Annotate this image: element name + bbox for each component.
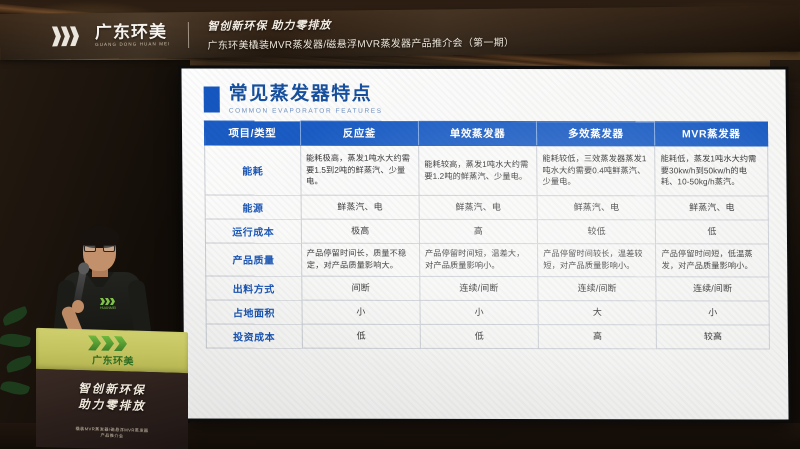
table-cell: 产品停留时间短，温差大，对产品质量影响小。 [419, 243, 538, 276]
table-row: 能源 鲜蒸汽、电 鲜蒸汽、电 鲜蒸汽、电 鲜蒸汽、电 [205, 195, 768, 220]
table-cell: 鲜蒸汽、电 [655, 196, 768, 220]
table-cell: 鲜蒸汽、电 [537, 196, 655, 220]
table-cell: 小 [656, 301, 769, 325]
slide-header: 常见蒸发器特点 COMMON EVAPORATOR FEATURES [204, 85, 383, 115]
table-cell: 鲜蒸汽、电 [301, 195, 419, 219]
table-cell: 产品停留时间短，低温蒸发，对产品质量影响小。 [656, 244, 769, 277]
table-cell: 鲜蒸汽、电 [419, 195, 537, 219]
company-logo-icon [88, 335, 138, 351]
table-cell: 能耗极高，蒸发1吨水大约需要1.5到2吨的鲜蒸汽、少量电。 [300, 145, 419, 195]
table-cell: 高 [419, 219, 537, 243]
conference-room-photo: 广东环美 GUANG DONG HUAN MEI 智创新环保 助力零排放 广东环… [0, 0, 800, 449]
table-cell: 间断 [301, 276, 419, 300]
table-cell: 极高 [301, 219, 419, 243]
projection-screen: 常见蒸发器特点 COMMON EVAPORATOR FEATURES 项目/类型… [178, 65, 791, 422]
event-banner: 广东环美 GUANG DONG HUAN MEI 智创新环保 助力零排放 广东环… [0, 6, 800, 60]
slide-title: 常见蒸发器特点 [229, 85, 383, 105]
banner-brand: 广东环美 GUANG DONG HUAN MEI [95, 23, 171, 47]
table-cell: 连续/间断 [538, 276, 656, 300]
table-row: 产品质量 产品停留时间长，质量不稳定，对产品质量影响大。 产品停留时间短，温差大… [205, 243, 768, 277]
slide-content: 常见蒸发器特点 COMMON EVAPORATOR FEATURES 项目/类型… [181, 68, 788, 419]
table-header-row: 项目/类型 反应釜 单效蒸发器 多效蒸发器 MVR蒸发器 [204, 121, 767, 146]
banner-divider [188, 22, 189, 48]
lectern-brand-label: 广东环美 [84, 351, 142, 368]
banner-event-title: 广东环美橇装MVR蒸发器/磁悬浮MVR蒸发器产品推介会（第一期） [207, 34, 514, 52]
table-cell: 产品停留时间长，质量不稳定，对产品质量影响大。 [301, 243, 420, 276]
glasses-icon [83, 245, 116, 253]
row-label: 运行成本 [205, 219, 301, 243]
table-row: 出料方式 间断 连续/间断 连续/间断 连续/间断 [206, 276, 769, 301]
table-header-cell: 多效蒸发器 [537, 122, 655, 146]
lectern-subtitle: 橇装MVR蒸发器/磁悬浮MVR蒸发器 产品推介会 [36, 425, 188, 442]
lectern-top-panel: 广东环美 [36, 328, 188, 373]
table-cell: 低 [656, 220, 769, 244]
table-row: 能耗 能耗极高，蒸发1吨水大约需要1.5到2吨的鲜蒸汽、少量电。 能耗较高，蒸发… [205, 145, 768, 196]
presenter-hand [72, 300, 84, 313]
lectern-logo: 广东环美 [84, 335, 142, 367]
row-label: 产品质量 [205, 243, 301, 276]
table-cell: 能耗较低，三效蒸发器蒸发1吨水大约需要0.4吨鲜蒸汽、少量电。 [537, 146, 656, 196]
table-row: 投资成本 低 低 高 较高 [206, 324, 769, 349]
title-accent-square [204, 87, 220, 113]
banner-brand-cn: 广东环美 [95, 23, 171, 41]
row-label: 能源 [205, 195, 301, 219]
table-cell: 产品停留时间较长，温差较短，对产品质量影响小。 [538, 244, 657, 277]
banner-slogan: 智创新环保 助力零排放 [207, 15, 514, 34]
table-cell: 高 [538, 324, 656, 348]
speaker-at-podium: HUANMEI 广东环美 智创新环保 助力零排放 [24, 226, 189, 449]
table-header-cell: 单效蒸发器 [418, 121, 536, 145]
table-cell: 能耗低，蒸发1吨水大约需要30kw/h到50kw/h的电耗、10-50kg/h蒸… [655, 146, 768, 196]
row-label: 投资成本 [206, 324, 302, 348]
table-cell: 低 [302, 324, 420, 348]
company-logo-icon [52, 25, 86, 47]
table-cell: 连续/间断 [420, 276, 538, 300]
table-row: 占地面积 小 小 大 小 [206, 300, 769, 325]
comparison-table-wrapper: 项目/类型 反应釜 单效蒸发器 多效蒸发器 MVR蒸发器 能耗 能耗极高，蒸发1… [204, 121, 770, 350]
banner-brand-en: GUANG DONG HUAN MEI [95, 42, 170, 47]
table-cell: 大 [538, 300, 656, 324]
row-label: 占地面积 [206, 300, 302, 324]
table-cell: 较高 [657, 325, 770, 349]
slide-subtitle: COMMON EVAPORATOR FEATURES [229, 107, 383, 114]
table-cell: 能耗较高，蒸发1吨水大约需要1.2吨的鲜蒸汽、少量电。 [419, 145, 538, 195]
lectern-slogan-line2: 助力零排放 [36, 396, 188, 416]
evaporator-comparison-table: 项目/类型 反应釜 单效蒸发器 多效蒸发器 MVR蒸发器 能耗 能耗极高，蒸发1… [204, 121, 770, 350]
table-header-cell: 项目/类型 [204, 121, 300, 145]
table-row: 运行成本 极高 高 较低 低 [205, 219, 768, 244]
table-cell: 小 [420, 300, 538, 324]
row-label: 出料方式 [206, 276, 302, 300]
polo-chest-logo-icon: HUANMEI [100, 298, 119, 310]
table-header-cell: MVR蒸发器 [655, 122, 768, 146]
table-cell: 小 [302, 300, 420, 324]
table-cell: 较低 [537, 220, 655, 244]
row-label: 能耗 [205, 145, 301, 195]
table-header-cell: 反应釜 [300, 121, 418, 145]
table-cell: 连续/间断 [656, 277, 769, 301]
lectern: 广东环美 智创新环保 助力零排放 橇装MVR蒸发器/磁悬浮MVR蒸发器 产品推介… [36, 328, 188, 449]
lectern-slogan: 智创新环保 助力零排放 [36, 381, 188, 416]
table-cell: 低 [420, 324, 538, 348]
lectern-front-panel: 智创新环保 助力零排放 橇装MVR蒸发器/磁悬浮MVR蒸发器 产品推介会 [36, 369, 188, 449]
